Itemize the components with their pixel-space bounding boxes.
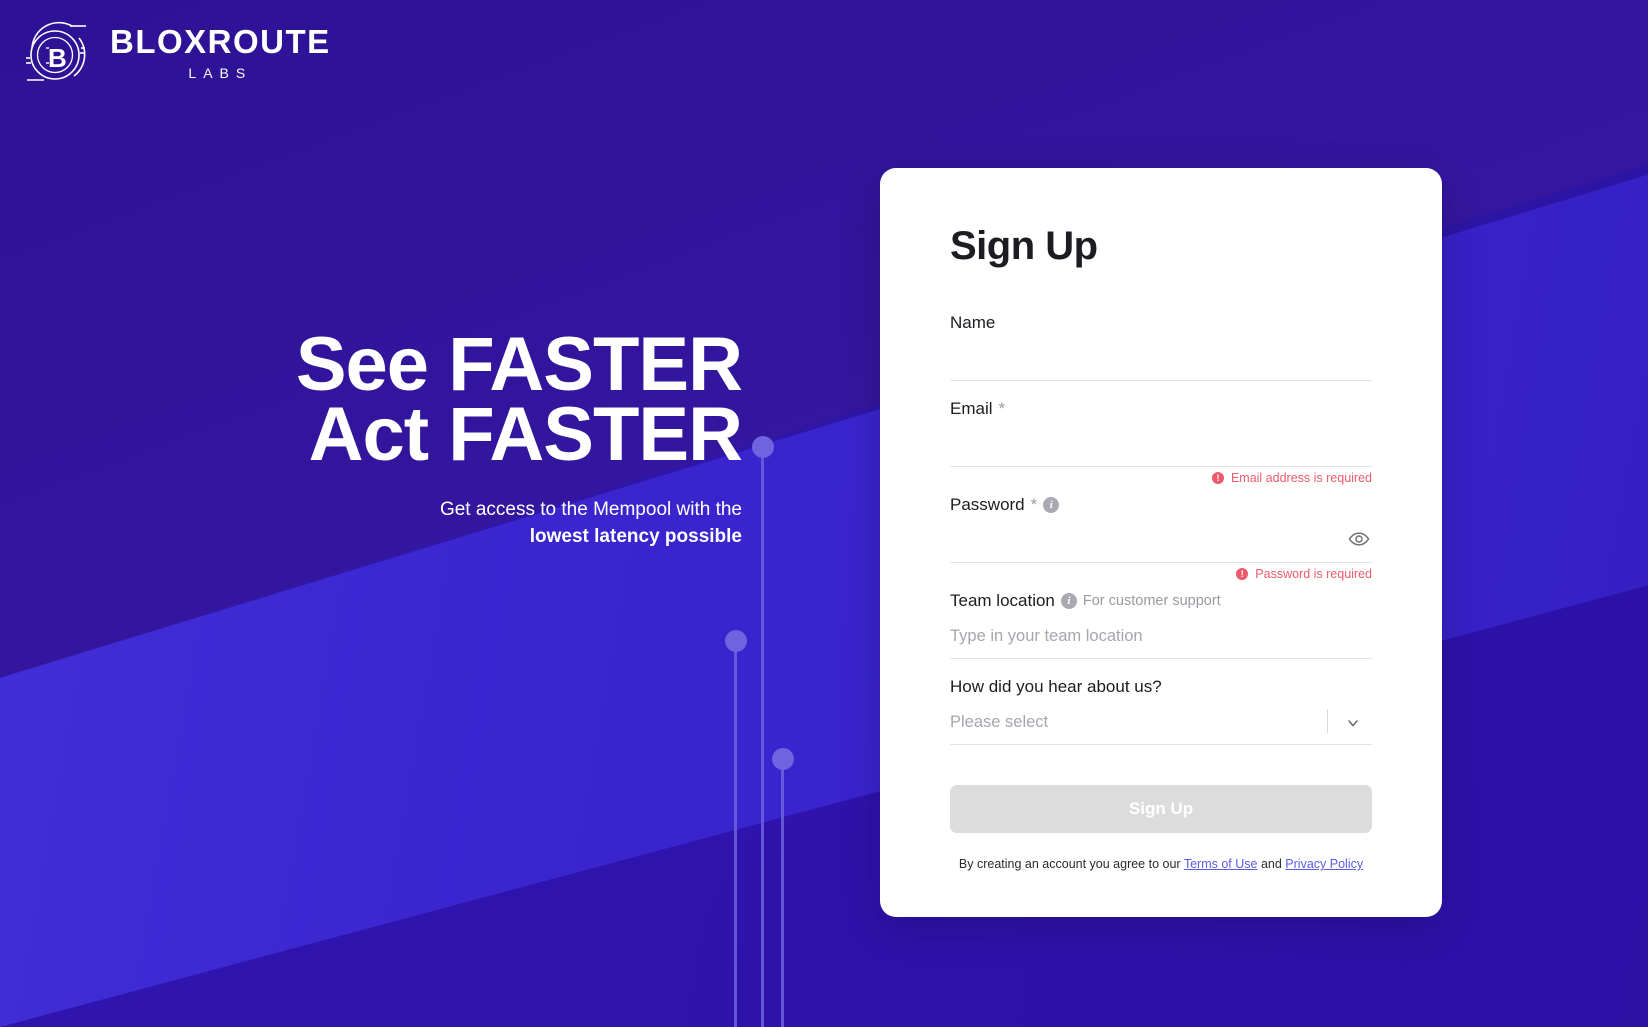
password-input-wrapper[interactable]	[950, 519, 1372, 563]
team-location-input[interactable]	[950, 627, 1372, 646]
error-icon: !	[1212, 472, 1224, 484]
password-input[interactable]	[950, 531, 1372, 550]
referral-selected-value: Please select	[950, 713, 1048, 732]
hero-headline: See FASTER Act FASTER	[0, 330, 742, 470]
brand-name: BLOXROUTE	[110, 25, 331, 60]
info-icon[interactable]: i	[1061, 593, 1077, 609]
signin-prompt: Already have an account? Sign In	[880, 880, 1442, 898]
hero-subtext: Get access to the Mempool with the lowes…	[0, 496, 742, 551]
hero-subtext-line1: Get access to the Mempool with the	[440, 499, 742, 520]
referral-select[interactable]: Please select	[950, 701, 1372, 745]
referral-label-text: How did you hear about us?	[950, 677, 1162, 697]
field-password: Password * i ! Password is required	[950, 495, 1372, 585]
team-location-label-text: Team location	[950, 591, 1055, 611]
hero-subtext-line2: lowest latency possible	[0, 523, 742, 551]
email-input[interactable]	[950, 435, 1372, 454]
email-input-wrapper[interactable]	[950, 423, 1372, 467]
sign-in-link[interactable]: Sign In	[1236, 880, 1289, 897]
field-name: Name	[950, 313, 1372, 381]
field-referral: How did you hear about us? Please select	[950, 677, 1372, 745]
chevron-down-icon[interactable]	[1344, 714, 1362, 732]
name-label: Name	[950, 313, 1372, 333]
password-label-text: Password	[950, 495, 1025, 515]
hero-section: See FASTER Act FASTER Get access to the …	[0, 330, 790, 551]
terms-prefix: By creating an account you agree to our	[959, 857, 1181, 871]
team-location-hint: For customer support	[1083, 593, 1221, 609]
team-location-label: Team location i For customer support	[950, 591, 1372, 611]
info-icon[interactable]: i	[1043, 497, 1059, 513]
field-team-location: Team location i For customer support	[950, 591, 1372, 659]
email-label-text: Email	[950, 399, 993, 419]
email-error-text: Email address is required	[1231, 471, 1372, 485]
eye-icon[interactable]	[1346, 526, 1372, 552]
email-label: Email *	[950, 399, 1372, 419]
signup-submit-button[interactable]: Sign Up	[950, 785, 1372, 833]
brand-subtitle: LABS	[110, 65, 331, 81]
brand-logo[interactable]: B BLOXROUTE LABS	[22, 18, 331, 88]
signin-prompt-text: Already have an account?	[1033, 880, 1231, 897]
bloxroute-circular-b-logo-icon: B	[22, 18, 92, 88]
select-divider	[1327, 709, 1328, 733]
hero-headline-line2-light: Act	[309, 392, 428, 477]
privacy-policy-link[interactable]: Privacy Policy	[1285, 857, 1363, 871]
terms-text: By creating an account you agree to our …	[950, 857, 1372, 871]
password-required-mark: *	[1031, 495, 1038, 515]
signup-page: B BLOXROUTE LABS See FASTER Act FASTER G…	[0, 0, 1648, 1027]
email-error: ! Email address is required	[950, 467, 1372, 489]
password-label: Password * i	[950, 495, 1372, 515]
terms-of-use-link[interactable]: Terms of Use	[1184, 857, 1258, 871]
team-location-input-wrapper[interactable]	[950, 615, 1372, 659]
password-error: ! Password is required	[950, 563, 1372, 585]
name-input[interactable]	[950, 349, 1372, 368]
field-email: Email * ! Email address is required	[950, 399, 1372, 489]
signup-card: Sign Up Name Email * ! Email address is …	[880, 168, 1442, 917]
page-title: Sign Up	[950, 224, 1372, 269]
terms-conjunction: and	[1261, 857, 1282, 871]
name-label-text: Name	[950, 313, 995, 333]
error-icon: !	[1236, 568, 1248, 580]
password-error-text: Password is required	[1255, 567, 1372, 581]
referral-label: How did you hear about us?	[950, 677, 1372, 697]
email-required-mark: *	[999, 399, 1006, 419]
svg-text:B: B	[48, 43, 67, 73]
hero-headline-line2-bold: FASTER	[448, 392, 742, 477]
name-input-wrapper[interactable]	[950, 337, 1372, 381]
